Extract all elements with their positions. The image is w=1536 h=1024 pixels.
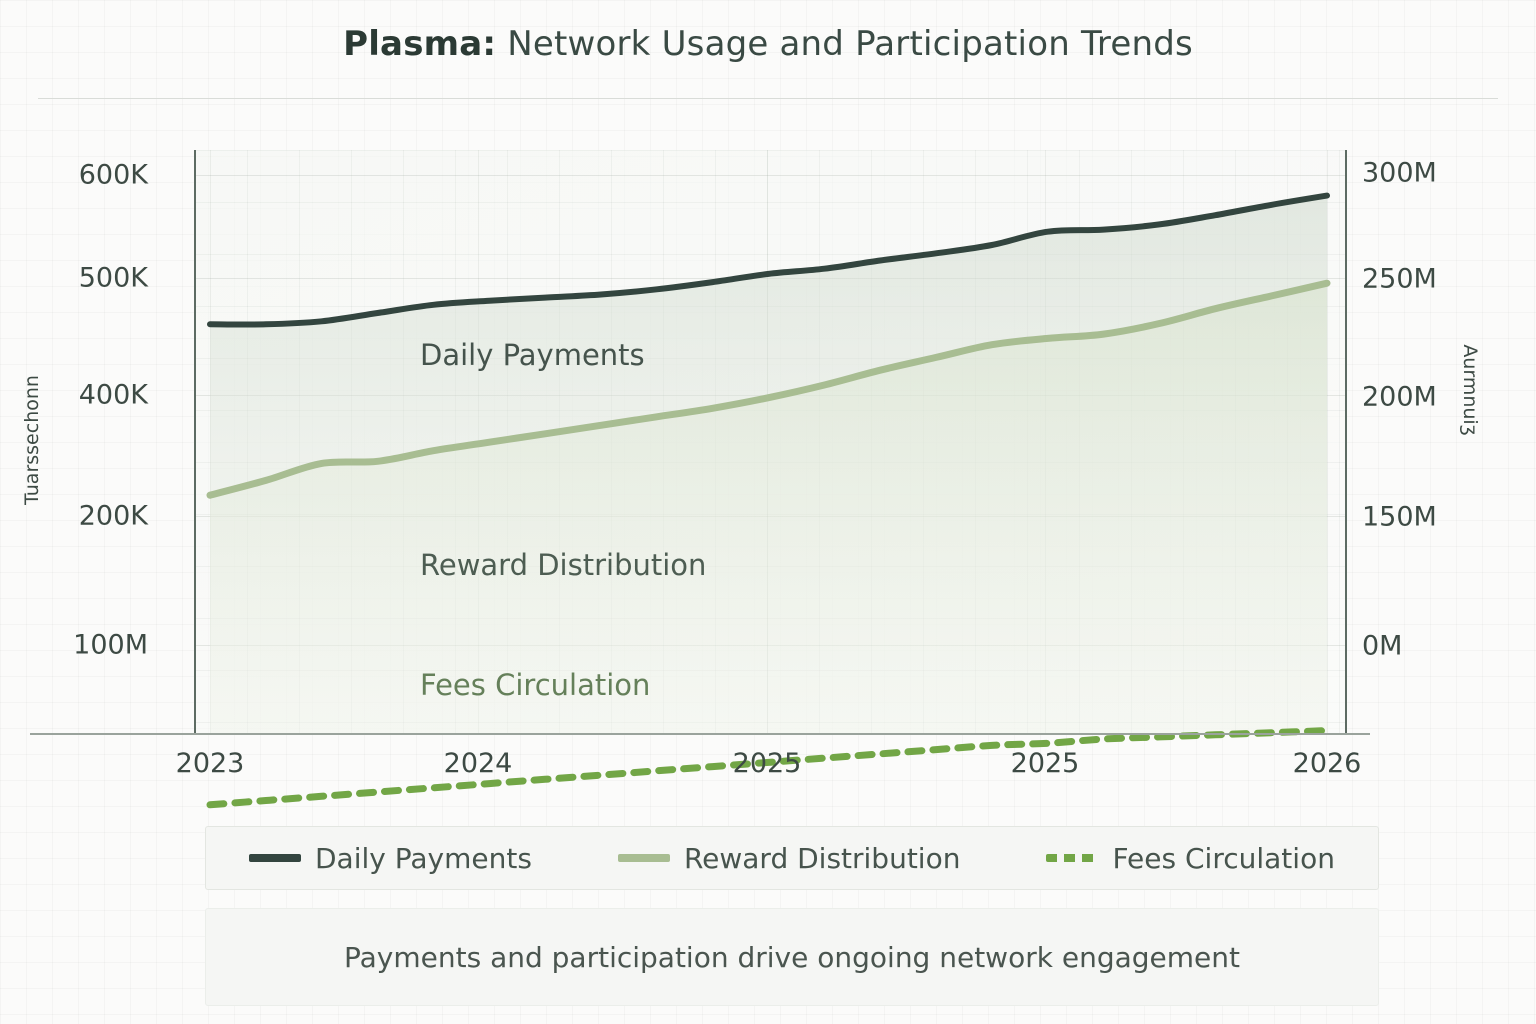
y-tick-right: 300M <box>1362 158 1437 189</box>
x-tick: 2026 <box>1293 748 1362 779</box>
axis-spine-left <box>194 150 196 733</box>
legend-swatch-icon <box>249 854 301 862</box>
chart-figure: Plasma: Network Usage and Participation … <box>0 0 1536 1024</box>
caption-box: Payments and participation drive ongoing… <box>205 908 1379 1006</box>
y-tick-left: 600K <box>79 160 148 191</box>
title-emphasis: Plasma: <box>343 24 496 64</box>
plot-area <box>195 150 1345 733</box>
legend-label: Reward Distribution <box>684 842 961 875</box>
legend-swatch-icon <box>618 854 670 862</box>
y-axis-left-label: Tuarssechonn <box>21 375 43 505</box>
legend-label: Fees Circulation <box>1112 842 1334 875</box>
y-tick-right: 200M <box>1362 382 1437 413</box>
caption-text: Payments and participation drive ongoing… <box>344 941 1240 974</box>
x-tick: 2025 <box>1011 748 1080 779</box>
y-tick-left: 100M <box>73 630 148 661</box>
y-tick-right: 150M <box>1362 502 1437 533</box>
legend-item-reward-distribution[interactable]: Reward Distribution <box>618 842 961 875</box>
annotation-reward-distribution: Reward Distribution <box>420 548 706 582</box>
axis-spine-bottom <box>30 733 1370 735</box>
x-tick: 2023 <box>176 748 245 779</box>
legend-item-daily-payments[interactable]: Daily Payments <box>249 842 532 875</box>
y-tick-right: 0M <box>1362 631 1402 662</box>
y-tick-left: 500K <box>79 263 148 294</box>
annotation-fees-circulation: Fees Circulation <box>420 668 650 702</box>
x-tick: 2024 <box>444 748 513 779</box>
legend-label: Daily Payments <box>315 842 532 875</box>
y-tick-right: 250M <box>1362 264 1437 295</box>
page-title: Plasma: Network Usage and Participation … <box>0 24 1536 64</box>
y-tick-left: 400K <box>79 380 148 411</box>
legend-swatch-icon <box>1046 854 1098 862</box>
y-tick-left: 200K <box>79 501 148 532</box>
y-axis-right-label: Aurmnuiʒ <box>1459 344 1481 435</box>
title-rest: Network Usage and Participation Trends <box>496 24 1193 64</box>
annotation-daily-payments: Daily Payments <box>420 338 645 372</box>
axis-spine-right <box>1345 150 1347 733</box>
legend-item-fees-circulation[interactable]: Fees Circulation <box>1046 842 1334 875</box>
title-divider <box>38 98 1498 99</box>
series-plot <box>195 150 1345 733</box>
title-block: Plasma: Network Usage and Participation … <box>0 24 1536 64</box>
x-tick: 2025 <box>733 748 802 779</box>
chart-legend[interactable]: Daily PaymentsReward DistributionFees Ci… <box>205 826 1379 890</box>
